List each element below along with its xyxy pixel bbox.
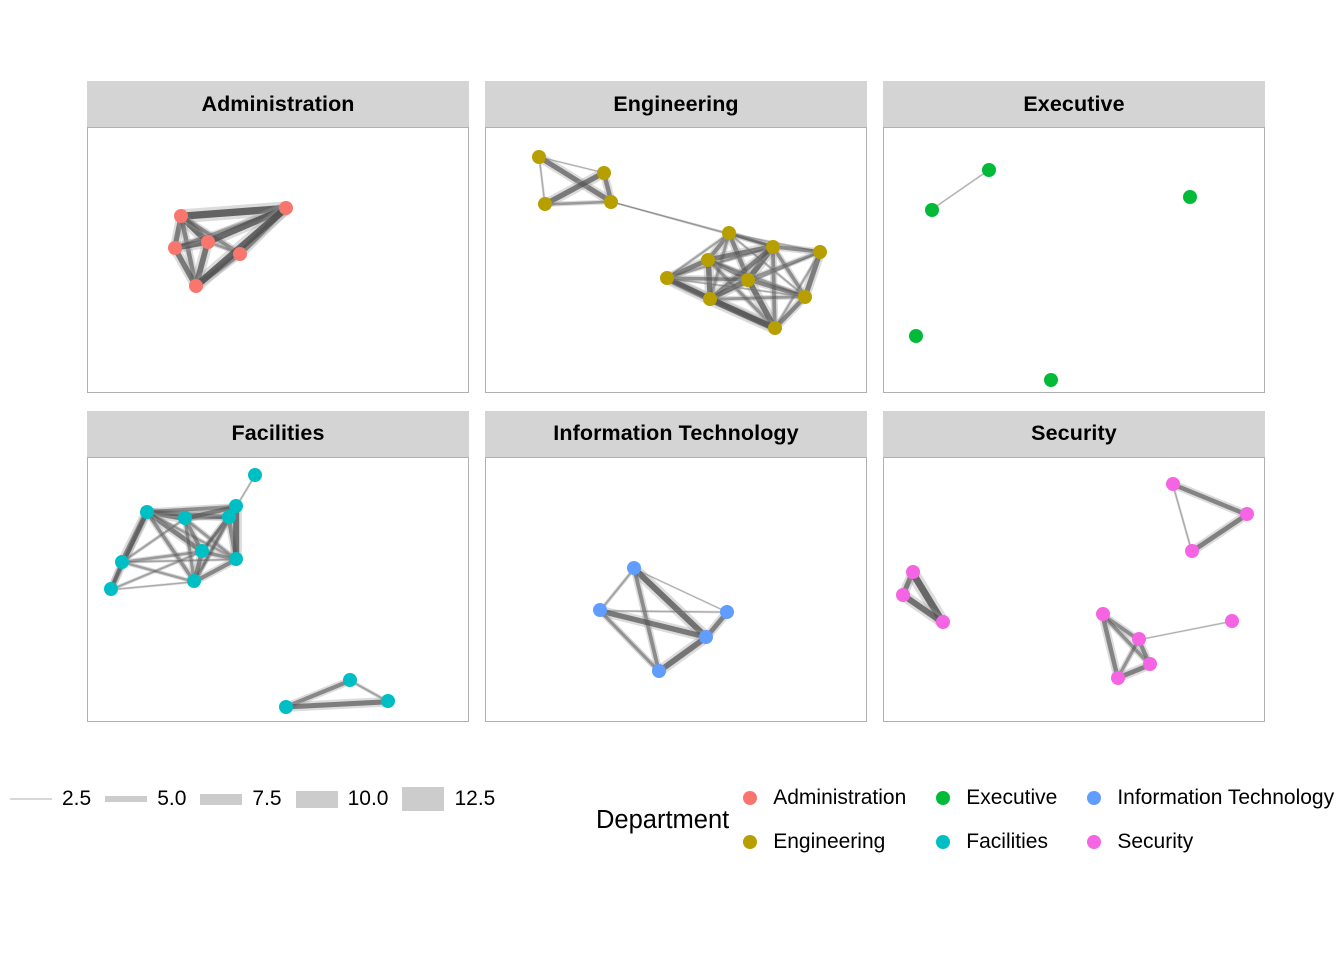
legend-item-label: Facilities bbox=[966, 830, 1048, 854]
legend-dot-icon bbox=[1087, 835, 1101, 849]
network-node[interactable] bbox=[1185, 544, 1199, 558]
legend-item-administration[interactable]: Administration bbox=[743, 776, 906, 820]
legend-title-department: Department bbox=[596, 806, 729, 835]
facet-panel-information-technology bbox=[485, 457, 867, 723]
network-node[interactable] bbox=[538, 197, 552, 211]
legend-item-security[interactable]: Security bbox=[1087, 820, 1334, 864]
network-node[interactable] bbox=[104, 582, 118, 596]
node-overlay bbox=[88, 458, 468, 722]
facet-strip-executive: Executive bbox=[883, 81, 1265, 127]
network-node[interactable] bbox=[279, 700, 293, 714]
legend-dot-icon bbox=[1087, 791, 1101, 805]
facet-administration: Administration bbox=[87, 81, 469, 393]
legend-item-executive[interactable]: Executive bbox=[936, 776, 1057, 820]
network-node[interactable] bbox=[189, 279, 203, 293]
network-facet-plot: AdministrationEngineeringExecutiveFacili… bbox=[0, 0, 1344, 960]
facet-strip-security: Security bbox=[883, 411, 1265, 457]
legend-dot-icon bbox=[743, 835, 757, 849]
edge-width-key-12-5[interactable]: 12.5 bbox=[400, 787, 507, 811]
edge-width-swatch bbox=[8, 798, 54, 800]
network-node[interactable] bbox=[178, 511, 192, 525]
network-node[interactable] bbox=[982, 163, 996, 177]
network-node[interactable] bbox=[248, 468, 262, 482]
legend-item-label: Security bbox=[1117, 830, 1193, 854]
network-node[interactable] bbox=[1166, 477, 1180, 491]
legend-dot-icon bbox=[743, 791, 757, 805]
edge-width-swatch bbox=[198, 794, 244, 805]
network-node[interactable] bbox=[798, 290, 812, 304]
network-node[interactable] bbox=[229, 499, 243, 513]
legend-item-engineering[interactable]: Engineering bbox=[743, 820, 906, 864]
facet-security: Security bbox=[883, 411, 1265, 723]
facet-engineering: Engineering bbox=[485, 81, 867, 393]
edge-width-key-7-5[interactable]: 7.5 bbox=[198, 787, 293, 811]
edge-width-bar bbox=[10, 798, 52, 800]
network-node[interactable] bbox=[660, 271, 674, 285]
legend-item-label: Information Technology bbox=[1117, 786, 1334, 810]
facet-strip-label: Engineering bbox=[613, 92, 738, 117]
facet-grid: AdministrationEngineeringExecutiveFacili… bbox=[87, 81, 1265, 722]
edge-width-key-2-5[interactable]: 2.5 bbox=[8, 787, 103, 811]
facet-panel-security bbox=[883, 457, 1265, 723]
network-node[interactable] bbox=[1240, 507, 1254, 521]
edge-width-bar bbox=[402, 787, 444, 811]
edge-width-bar bbox=[296, 791, 338, 808]
network-node[interactable] bbox=[741, 273, 755, 287]
facet-panel-engineering bbox=[485, 127, 867, 393]
network-node[interactable] bbox=[720, 605, 734, 619]
legend-dot-icon bbox=[936, 835, 950, 849]
edge-width-label: 10.0 bbox=[348, 787, 389, 811]
network-node[interactable] bbox=[909, 329, 923, 343]
network-node[interactable] bbox=[1096, 607, 1110, 621]
legend-item-facilities[interactable]: Facilities bbox=[936, 820, 1057, 864]
facet-strip-label: Facilities bbox=[231, 421, 324, 446]
network-node[interactable] bbox=[1044, 373, 1058, 387]
network-node[interactable] bbox=[593, 603, 607, 617]
facet-strip-administration: Administration bbox=[87, 81, 469, 127]
network-node[interactable] bbox=[813, 245, 827, 259]
facet-facilities: Facilities bbox=[87, 411, 469, 723]
network-node[interactable] bbox=[722, 226, 736, 240]
network-node[interactable] bbox=[1132, 632, 1146, 646]
edge-width-swatch bbox=[294, 791, 340, 808]
network-node[interactable] bbox=[195, 544, 209, 558]
node-overlay bbox=[88, 128, 468, 392]
department-color-legend: Department AdministrationEngineeringExec… bbox=[596, 776, 1334, 864]
node-overlay bbox=[486, 458, 866, 722]
network-node[interactable] bbox=[115, 555, 129, 569]
network-node[interactable] bbox=[768, 321, 782, 335]
network-node[interactable] bbox=[168, 241, 182, 255]
network-node[interactable] bbox=[925, 203, 939, 217]
network-node[interactable] bbox=[652, 664, 666, 678]
network-node[interactable] bbox=[532, 150, 546, 164]
facet-strip-label: Information Technology bbox=[553, 421, 798, 446]
network-node[interactable] bbox=[896, 588, 910, 602]
facet-panel-facilities bbox=[87, 457, 469, 723]
legend-item-information-technology[interactable]: Information Technology bbox=[1087, 776, 1334, 820]
network-node[interactable] bbox=[604, 195, 618, 209]
network-node[interactable] bbox=[1225, 614, 1239, 628]
network-node[interactable] bbox=[381, 694, 395, 708]
network-node[interactable] bbox=[627, 561, 641, 575]
facet-panel-administration bbox=[87, 127, 469, 393]
node-overlay bbox=[486, 128, 866, 392]
network-node[interactable] bbox=[597, 166, 611, 180]
network-node[interactable] bbox=[703, 292, 717, 306]
edge-width-bar bbox=[200, 794, 242, 805]
edge-width-label: 5.0 bbox=[157, 787, 186, 811]
network-node[interactable] bbox=[279, 201, 293, 215]
network-node[interactable] bbox=[229, 552, 243, 566]
legend-item-label: Administration bbox=[773, 786, 906, 810]
network-node[interactable] bbox=[174, 209, 188, 223]
network-node[interactable] bbox=[187, 574, 201, 588]
node-overlay bbox=[884, 128, 1264, 392]
edge-width-swatch bbox=[103, 796, 149, 802]
facet-strip-information-technology: Information Technology bbox=[485, 411, 867, 457]
facet-strip-label: Administration bbox=[201, 92, 354, 117]
network-node[interactable] bbox=[699, 630, 713, 644]
network-node[interactable] bbox=[906, 565, 920, 579]
network-node[interactable] bbox=[701, 253, 715, 267]
network-node[interactable] bbox=[233, 247, 247, 261]
facet-strip-engineering: Engineering bbox=[485, 81, 867, 127]
facet-executive: Executive bbox=[883, 81, 1265, 393]
edge-width-label: 7.5 bbox=[252, 787, 281, 811]
facet-strip-label: Security bbox=[1031, 421, 1117, 446]
edge-width-key-10-0[interactable]: 10.0 bbox=[294, 787, 401, 811]
facet-strip-label: Executive bbox=[1023, 92, 1124, 117]
legend-item-label: Executive bbox=[966, 786, 1057, 810]
edge-width-label: 12.5 bbox=[454, 787, 495, 811]
legend-dot-icon bbox=[936, 791, 950, 805]
network-node[interactable] bbox=[936, 615, 950, 629]
network-node[interactable] bbox=[140, 505, 154, 519]
legend-key-grid: AdministrationEngineeringExecutiveFacili… bbox=[743, 776, 1334, 864]
network-node[interactable] bbox=[1183, 190, 1197, 204]
edge-width-legend: 2.55.07.510.012.5 bbox=[8, 778, 507, 820]
legend-item-label: Engineering bbox=[773, 830, 885, 854]
edge-width-swatch bbox=[400, 787, 446, 811]
network-node[interactable] bbox=[1143, 657, 1157, 671]
network-node[interactable] bbox=[766, 240, 780, 254]
network-node[interactable] bbox=[201, 235, 215, 249]
edge-width-key-5-0[interactable]: 5.0 bbox=[103, 787, 198, 811]
facet-strip-facilities: Facilities bbox=[87, 411, 469, 457]
facet-panel-executive bbox=[883, 127, 1265, 393]
network-node[interactable] bbox=[1111, 671, 1125, 685]
network-node[interactable] bbox=[343, 673, 357, 687]
facet-information-technology: Information Technology bbox=[485, 411, 867, 723]
edge-width-bar bbox=[105, 796, 147, 802]
edge-width-label: 2.5 bbox=[62, 787, 91, 811]
node-overlay bbox=[884, 458, 1264, 722]
